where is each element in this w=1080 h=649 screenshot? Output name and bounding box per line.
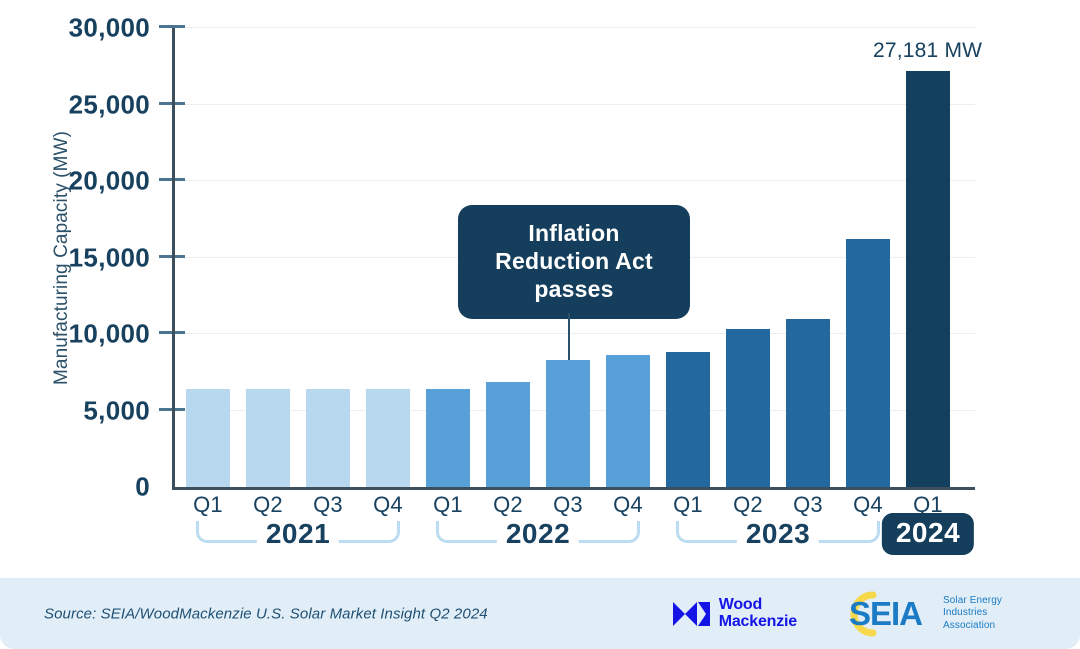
y-axis-tick-labels: 05,00010,00015,00020,00025,00030,000 [20,0,150,578]
y-tick-label: 0 [32,472,150,503]
seia-tagline-line-1: Solar Energy [943,595,1002,607]
wm-line-1: Wood [719,597,797,613]
logo-group: Wood Mackenzie SEIA Solar Energy Industr… [672,591,1002,637]
seia-tagline-line-3: Association [943,620,1002,632]
footer-bar: Source: SEIA/WoodMackenzie U.S. Solar Ma… [0,578,1080,649]
seia-logo: SEIA Solar Energy Industries Association [825,591,1002,637]
seia-tagline: Solar Energy Industries Association [943,595,1002,632]
source-text: Source: SEIA/WoodMackenzie U.S. Solar Ma… [44,605,488,622]
year-label-2021: 2021 [257,518,339,550]
wood-mackenzie-wordmark: Wood Mackenzie [719,597,797,630]
y-tick-label: 25,000 [32,89,150,120]
y-tick-label: 5,000 [32,395,150,426]
seia-mark: SEIA [825,591,937,637]
bar-chart-figure: Manufacturing Capacity (MW) 05,00010,000… [0,0,1080,578]
wm-line-2: Mackenzie [719,614,797,630]
seia-tagline-line-2: Industries [943,607,1002,619]
wood-mackenzie-logo: Wood Mackenzie [672,597,797,630]
year-label-2022: 2022 [497,518,579,550]
year-label-2024: 2024 [882,513,974,555]
y-tick-label: 30,000 [32,13,150,44]
year-label-2023: 2023 [737,518,819,550]
y-tick-label: 10,000 [32,319,150,350]
y-tick-label: 15,000 [32,242,150,273]
wood-mackenzie-mark-icon [672,598,712,630]
seia-letters: SEIA [849,596,922,632]
y-tick-label: 20,000 [32,166,150,197]
year-group-labels: 2021202220232024 [172,0,992,578]
